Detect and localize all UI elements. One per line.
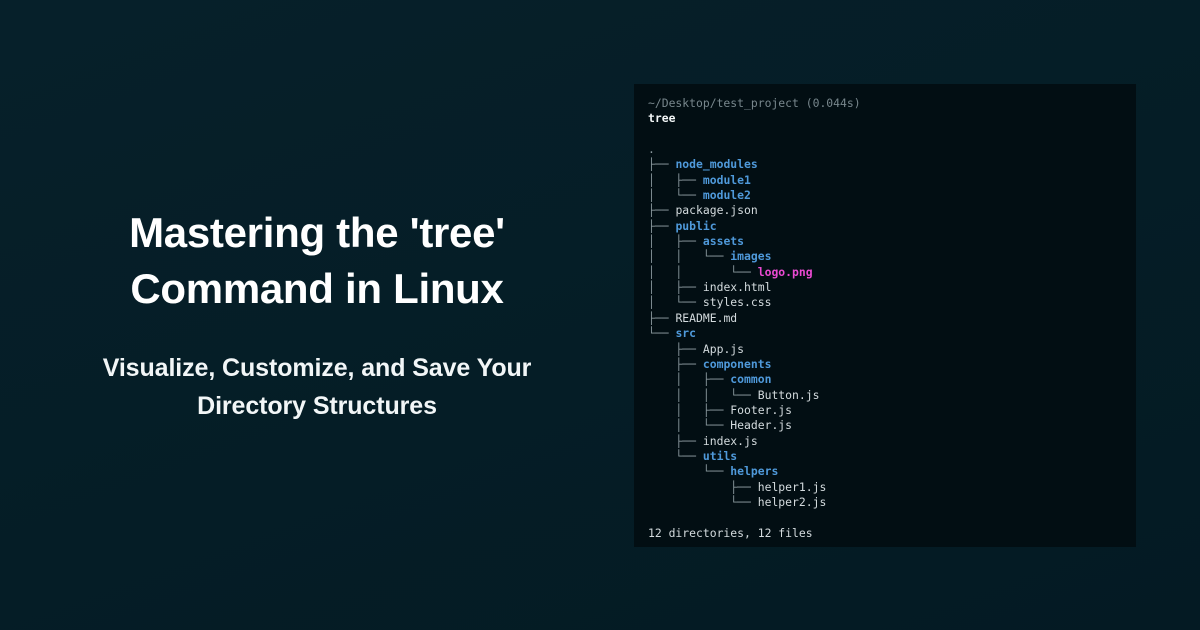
tree-row: ├── public — [648, 219, 1122, 234]
tree-directory-name: helpers — [730, 464, 778, 478]
tree-branch-connector: └── — [648, 449, 703, 463]
tree-branch-connector: │ ├── — [648, 403, 730, 417]
tree-file-name: App.js — [703, 342, 744, 356]
tree-row: │ └── Header.js — [648, 418, 1122, 433]
terminal-command: tree — [648, 111, 1122, 126]
tree-branch-connector: │ └── — [648, 418, 730, 432]
tree-branch-connector: └── — [648, 495, 758, 509]
tree-branch-connector: │ ├── — [648, 372, 730, 386]
hero-text-block: Mastering the 'tree' Command in Linux Vi… — [0, 0, 634, 630]
tree-branch-connector: │ │ └── — [648, 388, 758, 402]
tree-branch-connector: ├── — [648, 157, 675, 171]
tree-directory-name: utils — [703, 449, 737, 463]
tree-directory-name: node_modules — [675, 157, 757, 171]
terminal-spacer — [648, 127, 1122, 142]
tree-row: └── src — [648, 326, 1122, 341]
tree-row: ├── App.js — [648, 342, 1122, 357]
page-subtitle: Visualize, Customize, and Save Your Dire… — [72, 350, 562, 425]
tree-directory-name: public — [675, 219, 716, 233]
tree-branch-connector: │ └── — [648, 188, 703, 202]
tree-file-name: README.md — [675, 311, 737, 325]
tree-branch-connector: ├── — [648, 342, 703, 356]
tree-directory-name: common — [730, 372, 771, 386]
tree-file-name: helper2.js — [758, 495, 827, 509]
tree-file-name: index.js — [703, 434, 758, 448]
tree-summary: 12 directories, 12 files — [648, 526, 1122, 541]
tree-file-name: package.json — [675, 203, 757, 217]
terminal-prompt-path: ~/Desktop/test_project (0.044s) — [648, 96, 1122, 111]
tree-file-name: helper1.js — [758, 480, 827, 494]
tree-row: └── utils — [648, 449, 1122, 464]
tree-row: . — [648, 142, 1122, 157]
tree-row: │ └── styles.css — [648, 295, 1122, 310]
tree-branch-connector: ├── — [648, 203, 675, 217]
tree-file-name: Footer.js — [730, 403, 792, 417]
tree-row: │ │ └── logo.png — [648, 265, 1122, 280]
tree-file-name: index.html — [703, 280, 772, 294]
tree-root-name: . — [648, 142, 655, 156]
tree-branch-connector: │ ├── — [648, 173, 703, 187]
tree-output: .├── node_modules│ ├── module1│ └── modu… — [648, 142, 1122, 510]
tree-directory-name: src — [675, 326, 696, 340]
tree-row: │ │ └── images — [648, 249, 1122, 264]
tree-row: │ │ └── Button.js — [648, 388, 1122, 403]
tree-row: │ └── module2 — [648, 188, 1122, 203]
tree-row: │ ├── module1 — [648, 173, 1122, 188]
tree-row: │ ├── Footer.js — [648, 403, 1122, 418]
tree-directory-name: images — [730, 249, 771, 263]
tree-image-file-name: logo.png — [758, 265, 813, 279]
tree-directory-name: module1 — [703, 173, 751, 187]
tree-branch-connector: └── — [648, 464, 730, 478]
tree-branch-connector: │ │ └── — [648, 249, 730, 263]
tree-row: ├── package.json — [648, 203, 1122, 218]
tree-branch-connector: │ ├── — [648, 280, 703, 294]
tree-row: ├── node_modules — [648, 157, 1122, 172]
tree-row: └── helper2.js — [648, 495, 1122, 510]
tree-branch-connector: └── — [648, 326, 675, 340]
terminal-panel: ~/Desktop/test_project (0.044s) tree .├─… — [634, 84, 1136, 547]
tree-file-name: styles.css — [703, 295, 772, 309]
tree-branch-connector: ├── — [648, 480, 758, 494]
tree-directory-name: components — [703, 357, 772, 371]
tree-row: ├── components — [648, 357, 1122, 372]
tree-row: │ ├── common — [648, 372, 1122, 387]
tree-directory-name: assets — [703, 234, 744, 248]
tree-branch-connector: ├── — [648, 434, 703, 448]
tree-file-name: Button.js — [758, 388, 820, 402]
tree-branch-connector: │ └── — [648, 295, 703, 309]
tree-directory-name: module2 — [703, 188, 751, 202]
tree-branch-connector: │ ├── — [648, 234, 703, 248]
tree-row: ├── index.js — [648, 434, 1122, 449]
tree-file-name: Header.js — [730, 418, 792, 432]
social-card-canvas: Mastering the 'tree' Command in Linux Vi… — [0, 0, 1200, 630]
tree-branch-connector: ├── — [648, 219, 675, 233]
tree-row: │ ├── index.html — [648, 280, 1122, 295]
tree-row: └── helpers — [648, 464, 1122, 479]
tree-row: ├── README.md — [648, 311, 1122, 326]
page-title: Mastering the 'tree' Command in Linux — [102, 205, 532, 317]
tree-branch-connector: ├── — [648, 357, 703, 371]
tree-branch-connector: ├── — [648, 311, 675, 325]
tree-branch-connector: │ │ └── — [648, 265, 758, 279]
tree-row: ├── helper1.js — [648, 480, 1122, 495]
tree-row: │ ├── assets — [648, 234, 1122, 249]
